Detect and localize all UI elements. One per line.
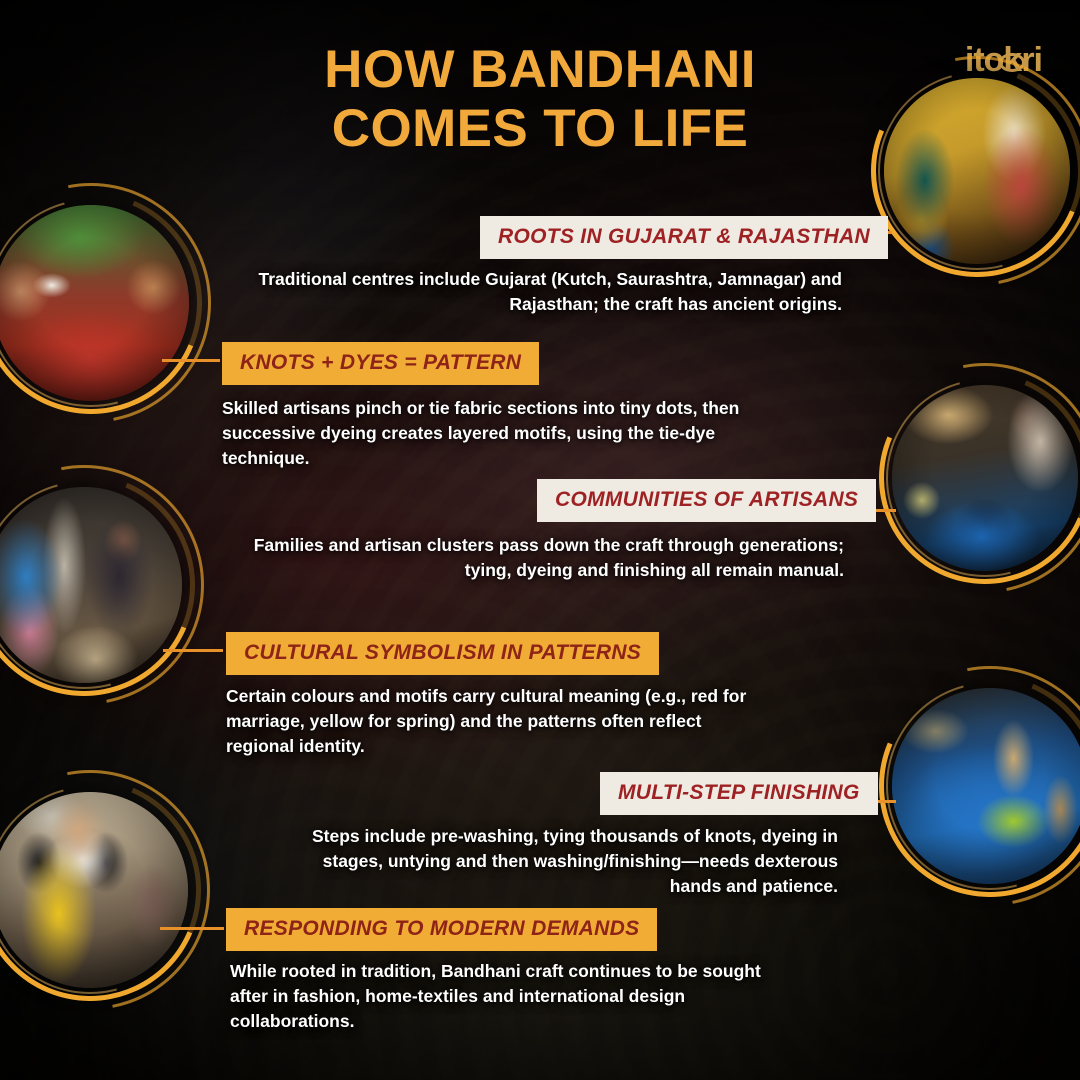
photo-indigo-dye-vat [892, 688, 1080, 884]
connector-line-symbolism [163, 649, 223, 652]
brand-logo[interactable]: itokri [965, 41, 1042, 80]
section-header-finishing: MULTI-STEP FINISHING [600, 772, 878, 815]
photo-vignette [892, 385, 1078, 571]
photo-vignette [884, 78, 1070, 264]
photo-women-tying-knots [884, 78, 1070, 264]
photo-vignette [0, 205, 189, 401]
section-header-symbolism: CULTURAL SYMBOLISM IN PATTERNS [226, 632, 659, 675]
photo-man-yellow-cloth [0, 792, 188, 988]
infographic-poster: HOW BANDHANI COMES TO LIFE itokri [0, 0, 1080, 1080]
logo-basket-ellipse-icon [999, 53, 1025, 72]
section-header-knots: KNOTS + DYES = PATTERN [222, 342, 539, 385]
section-body-finishing: Steps include pre-washing, tying thousan… [298, 824, 838, 899]
photo-frame [0, 792, 188, 988]
photo-frame [892, 688, 1080, 884]
photo-vignette [0, 792, 188, 988]
photo-frame [892, 385, 1078, 571]
photo-women-seated-working [0, 487, 182, 683]
photo-frame [884, 78, 1070, 264]
photo-hands-tying-red-cloth [0, 205, 189, 401]
section-body-modern: While rooted in tradition, Bandhani craf… [230, 959, 790, 1034]
connector-line-knots [162, 359, 220, 362]
photo-vignette [892, 688, 1080, 884]
photo-frame [0, 205, 189, 401]
section-header-communities: COMMUNITIES OF ARTISANS [537, 479, 876, 522]
photo-dyer-blue-tub [892, 385, 1078, 571]
section-body-knots: Skilled artisans pinch or tie fabric sec… [222, 396, 746, 471]
connector-line-modern [160, 927, 224, 930]
section-body-communities: Families and artisan clusters pass down … [246, 533, 844, 583]
section-body-roots: Traditional centres include Gujarat (Kut… [250, 267, 842, 317]
photo-frame [0, 487, 182, 683]
section-body-symbolism: Certain colours and motifs carry cultura… [226, 684, 774, 759]
section-header-modern: RESPONDING TO MODERN DEMANDS [226, 908, 657, 951]
section-header-roots: ROOTS IN GUJARAT & RAJASTHAN [480, 216, 888, 259]
